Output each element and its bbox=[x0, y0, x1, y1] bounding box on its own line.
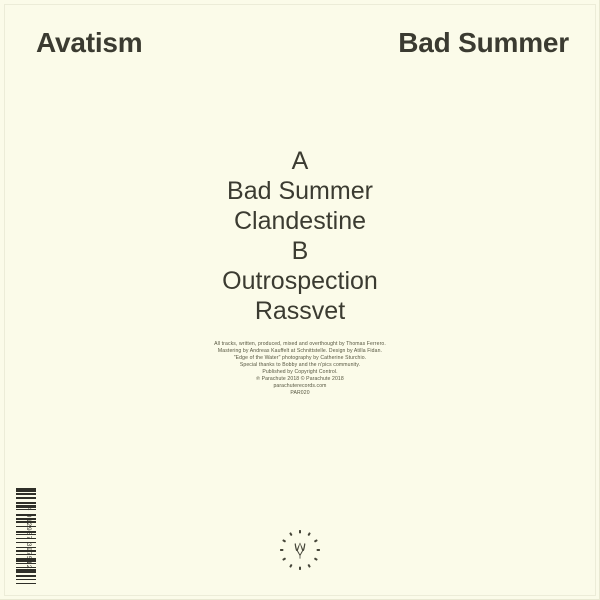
tracklist: A Bad Summer Clandestine B Outrospection… bbox=[0, 146, 600, 326]
credit-line: Mastering by Andreas Kauffelt at Schnitt… bbox=[0, 348, 600, 355]
side-label-b: B bbox=[0, 236, 600, 266]
label-website: parachuterecords.com bbox=[0, 383, 600, 390]
artist-name: Avatism bbox=[36, 27, 143, 59]
sleeve-header: Avatism Bad Summer bbox=[0, 27, 600, 67]
parachute-logo bbox=[272, 522, 328, 578]
barcode: 4 012957 397512 bbox=[16, 488, 52, 588]
record-sleeve-back: Avatism Bad Summer A Bad Summer Clandest… bbox=[0, 0, 600, 600]
parachute-logo-icon bbox=[272, 522, 328, 578]
credit-line: Special thanks to Bobby and the n'pics c… bbox=[0, 362, 600, 369]
catalog-number: PAR020 bbox=[0, 390, 600, 397]
track-a2: Clandestine bbox=[0, 206, 600, 236]
credit-line: All tracks, written, produced, mixed and… bbox=[0, 341, 600, 348]
copyright-line: ℗ Parachute 2018 © Parachute 2018 bbox=[0, 376, 600, 383]
track-b2: Rassvet bbox=[0, 296, 600, 326]
track-b1: Outrospection bbox=[0, 266, 600, 296]
release-title: Bad Summer bbox=[398, 27, 569, 59]
barcode-digits: 4 012957 397512 bbox=[21, 488, 35, 588]
credit-line: "Edge of the Water" photography by Cathe… bbox=[0, 355, 600, 362]
track-a1: Bad Summer bbox=[0, 176, 600, 206]
credits-block: All tracks, written, produced, mixed and… bbox=[0, 341, 600, 397]
side-label-a: A bbox=[0, 146, 600, 176]
